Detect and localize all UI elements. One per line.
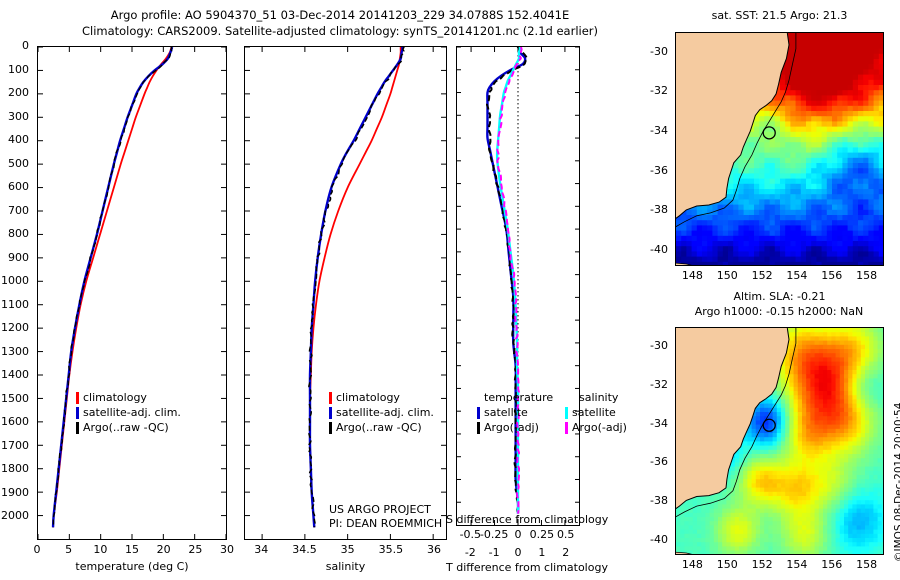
temperature-ytick-1800: 1800	[0, 462, 29, 475]
sst-map-canvas	[676, 33, 883, 265]
legend-swatch-sal-satellite	[565, 407, 568, 419]
copyright-label: ©IMOS 08-Dec-2014 20:00:54	[893, 403, 900, 562]
sla-map-y-axis: -30-32-34-36-38-40	[641, 327, 672, 555]
difference-salinity-axis-label: S difference from climatology	[446, 513, 590, 526]
temperature-ytick-200: 200	[0, 86, 29, 99]
sst-map-x-axis: 148150152154156158	[675, 269, 884, 283]
legend-swatch-sal-argo	[565, 422, 568, 434]
temperature-ytick-1600: 1600	[0, 415, 29, 428]
temperature-ytick-1200: 1200	[0, 321, 29, 334]
sla-ytick--34: -34	[641, 417, 668, 430]
temperature-ytick-500: 500	[0, 157, 29, 170]
sst-ytick--30: -30	[641, 45, 668, 58]
difference-legend-salinity: salinity satellite Argo(-adj)	[565, 390, 645, 435]
legend-swatch-satellite	[76, 407, 79, 419]
temperature-ytick-700: 700	[0, 204, 29, 217]
temperature-panel	[37, 46, 227, 540]
sla-xtick-158: 158	[847, 558, 887, 571]
legend-label-temp-argo: Argo(-adj)	[484, 421, 539, 434]
salinity-panel	[244, 46, 447, 540]
sst-xtick-158: 158	[847, 269, 887, 282]
legend-item-sal-satellite: satellite	[565, 405, 645, 420]
difference-x-axis-temperature: -2-1012	[456, 546, 580, 560]
difference-temperature-axis-label: T difference from climatology	[446, 561, 590, 574]
difference-xtick-t-4: 2	[548, 546, 584, 559]
sla-map-title-line2: Argo h1000: -0.15 h2000: NaN	[660, 305, 898, 318]
page-title-line1: Argo profile: AO 5904370_51 03-Dec-2014 …	[0, 8, 680, 22]
temperature-plot-canvas	[38, 47, 226, 539]
argo-pi-label: PI: DEAN ROEMMICH	[329, 517, 442, 530]
sst-map-title: sat. SST: 21.5 Argo: 21.3	[672, 9, 887, 22]
temperature-ytick-1100: 1100	[0, 298, 29, 311]
sla-ytick--36: -36	[641, 455, 668, 468]
legend-label-temp-satellite: satellite	[484, 406, 528, 419]
temperature-ytick-1400: 1400	[0, 368, 29, 381]
legend-heading-salinity: salinity	[565, 390, 645, 405]
temperature-ytick-0: 0	[0, 39, 29, 52]
temperature-ytick-2000: 2000	[0, 509, 29, 522]
sst-ytick--32: -32	[641, 84, 668, 97]
temperature-ytick-1300: 1300	[0, 345, 29, 358]
temperature-ytick-400: 400	[0, 133, 29, 146]
sst-map	[675, 32, 884, 266]
sla-ytick--30: -30	[641, 339, 668, 352]
temperature-ytick-300: 300	[0, 110, 29, 123]
salinity-plot-canvas	[245, 47, 446, 539]
legend-item-argo: Argo(..raw -QC)	[76, 420, 226, 435]
salinity-x-axis: 3434.53535.536	[244, 543, 447, 559]
salinity-axis-label: salinity	[244, 560, 447, 573]
temperature-ytick-1700: 1700	[0, 439, 29, 452]
sst-ytick--40: -40	[641, 243, 668, 256]
legend-swatch-temp-satellite	[477, 407, 480, 419]
legend-swatch-climatology-salinity	[329, 392, 332, 404]
temperature-ytick-1900: 1900	[0, 486, 29, 499]
difference-x-axis-salinity: -0.5-0.2500.250.5	[446, 528, 590, 542]
page-title-line2: Climatology: CARS2009. Satellite-adjuste…	[0, 24, 680, 38]
salinity-xtick-34: 34	[237, 543, 285, 556]
temperature-axis-label: temperature (deg C)	[37, 560, 227, 573]
salinity-xtick-35.5: 35.5	[367, 543, 415, 556]
difference-panel	[456, 46, 580, 526]
legend-swatch-argo-salinity	[329, 422, 332, 434]
difference-plot-canvas	[457, 47, 579, 525]
sla-map	[675, 327, 884, 555]
legend-swatch-argo	[76, 422, 79, 434]
legend-label-satellite: satellite-adj. clim.	[83, 406, 181, 419]
legend-item-climatology: climatology	[76, 390, 226, 405]
legend-swatch-climatology	[76, 392, 79, 404]
argo-project-label: US ARGO PROJECT	[329, 503, 431, 516]
temperature-x-axis: 051015202530	[37, 543, 227, 559]
legend-item-temp-argo: Argo(-adj)	[477, 420, 557, 435]
legend-label-argo-salinity: Argo(..raw -QC)	[336, 421, 422, 434]
legend-item-temp-satellite: satellite	[477, 405, 557, 420]
legend-label-satellite-salinity: satellite-adj. clim.	[336, 406, 434, 419]
salinity-xtick-34.5: 34.5	[280, 543, 328, 556]
temperature-legend: climatology satellite-adj. clim. Argo(..…	[76, 390, 226, 435]
sst-ytick--36: -36	[641, 164, 668, 177]
legend-heading-salinity-label: salinity	[579, 391, 618, 404]
sla-map-title-line1: Altim. SLA: -0.21	[672, 290, 887, 303]
legend-label-sal-argo: Argo(-adj)	[572, 421, 627, 434]
legend-item-sal-argo: Argo(-adj)	[565, 420, 645, 435]
sla-map-canvas	[676, 328, 883, 554]
legend-label-sal-satellite: satellite	[572, 406, 616, 419]
legend-label-climatology: climatology	[83, 391, 147, 404]
difference-legend-temperature: temperature satellite Argo(-adj)	[477, 390, 557, 435]
legend-swatch-satellite-salinity	[329, 407, 332, 419]
sst-ytick--38: -38	[641, 203, 668, 216]
legend-heading-temperature-label: temperature	[484, 391, 553, 404]
temperature-ytick-600: 600	[0, 180, 29, 193]
sla-ytick--38: -38	[641, 494, 668, 507]
sla-ytick--40: -40	[641, 533, 668, 546]
salinity-xtick-35: 35	[324, 543, 372, 556]
temperature-ytick-900: 900	[0, 251, 29, 264]
difference-xtick-s-4: 0.5	[544, 528, 588, 541]
temperature-ytick-100: 100	[0, 63, 29, 76]
temperature-y-axis: 0100200300400500600700800900100011001200…	[0, 46, 33, 540]
sla-map-x-axis: 148150152154156158	[675, 558, 884, 572]
legend-label-climatology-salinity: climatology	[336, 391, 400, 404]
salinity-xtick-36: 36	[410, 543, 458, 556]
sst-map-y-axis: -30-32-34-36-38-40	[641, 32, 672, 266]
sst-ytick--34: -34	[641, 124, 668, 137]
legend-label-argo: Argo(..raw -QC)	[83, 421, 169, 434]
temperature-ytick-1500: 1500	[0, 392, 29, 405]
legend-heading-temperature: temperature	[477, 390, 557, 405]
legend-item-satellite: satellite-adj. clim.	[76, 405, 226, 420]
legend-swatch-temp-argo	[477, 422, 480, 434]
temperature-ytick-800: 800	[0, 227, 29, 240]
sla-ytick--32: -32	[641, 378, 668, 391]
temperature-ytick-1000: 1000	[0, 274, 29, 287]
